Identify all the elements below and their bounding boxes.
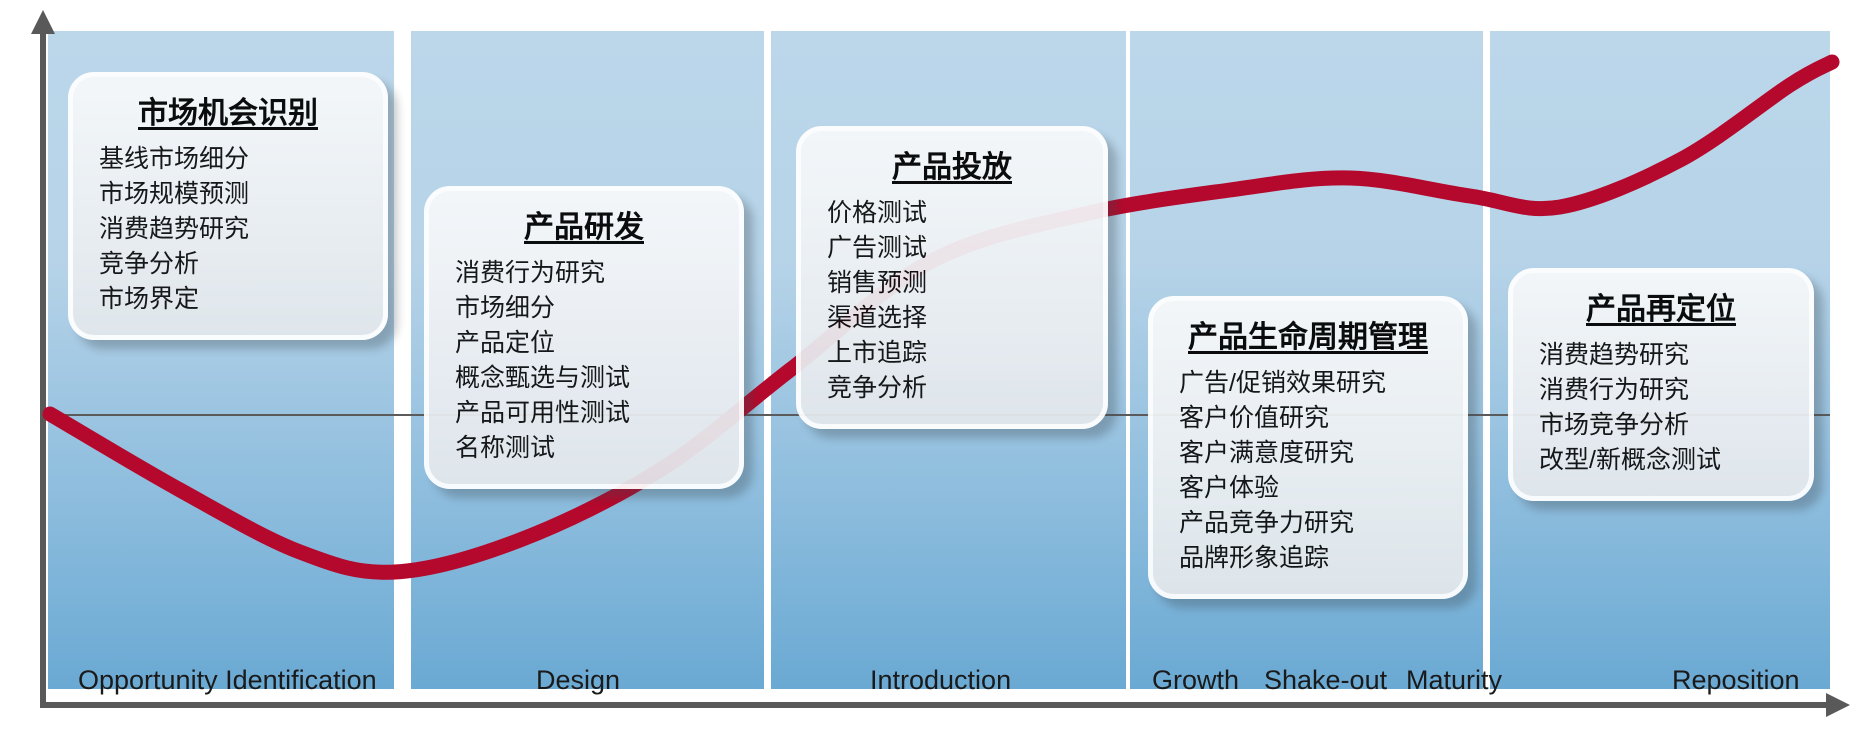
- card-title-product-launch: 产品投放: [827, 151, 1077, 186]
- list-item: 产品竞争力研究: [1179, 506, 1437, 541]
- list-item: 市场竞争分析: [1539, 408, 1783, 443]
- list-item: 渠道选择: [827, 301, 1077, 336]
- list-item: 消费行为研究: [1539, 373, 1783, 408]
- list-item: 广告测试: [827, 231, 1077, 266]
- x-axis-line: [40, 702, 1830, 708]
- list-item: 基线市场细分: [99, 142, 357, 177]
- x-axis-arrow-icon: [1826, 693, 1850, 717]
- card-market-opportunity-identification[interactable]: 市场机会识别基线市场细分市场规模预测消费趋势研究竞争分析市场界定: [68, 72, 388, 340]
- product-lifecycle-diagram: Opportunity IdentificationDesignIntroduc…: [0, 0, 1872, 756]
- card-product-research-development[interactable]: 产品研发消费行为研究市场细分产品定位概念甄选与测试产品可用性测试名称测试: [424, 186, 744, 489]
- stage-label-2: Introduction: [870, 665, 1011, 696]
- stage-label-4: Shake-out: [1264, 665, 1387, 696]
- list-item: 名称测试: [455, 431, 713, 466]
- list-item: 上市追踪: [827, 336, 1077, 371]
- card-title-market-opportunity-identification: 市场机会识别: [99, 97, 357, 132]
- list-item: 竞争分析: [99, 247, 357, 282]
- card-product-launch[interactable]: 产品投放价格测试广告测试销售预测渠道选择上市追踪竞争分析: [796, 126, 1108, 429]
- list-item: 广告/促销效果研究: [1179, 366, 1437, 401]
- list-item: 改型/新概念测试: [1539, 443, 1783, 478]
- list-item: 竞争分析: [827, 371, 1077, 406]
- list-item: 概念甄选与测试: [455, 361, 713, 396]
- list-item: 客户价值研究: [1179, 401, 1437, 436]
- card-title-product-research-development: 产品研发: [455, 211, 713, 246]
- card-list-product-lifecycle-management: 广告/促销效果研究客户价值研究客户满意度研究客户体验产品竞争力研究品牌形象追踪: [1179, 366, 1437, 576]
- list-item: 消费趋势研究: [1539, 338, 1783, 373]
- card-list-product-repositioning: 消费趋势研究消费行为研究市场竞争分析改型/新概念测试: [1539, 338, 1783, 478]
- y-axis-arrow-icon: [31, 10, 55, 34]
- card-product-repositioning[interactable]: 产品再定位消费趋势研究消费行为研究市场竞争分析改型/新概念测试: [1508, 268, 1814, 501]
- list-item: 消费行为研究: [455, 256, 713, 291]
- list-item: 市场细分: [455, 291, 713, 326]
- card-list-product-research-development: 消费行为研究市场细分产品定位概念甄选与测试产品可用性测试名称测试: [455, 256, 713, 466]
- list-item: 销售预测: [827, 266, 1077, 301]
- list-item: 产品定位: [455, 326, 713, 361]
- card-list-market-opportunity-identification: 基线市场细分市场规模预测消费趋势研究竞争分析市场界定: [99, 142, 357, 317]
- list-item: 客户满意度研究: [1179, 436, 1437, 471]
- list-item: 产品可用性测试: [455, 396, 713, 431]
- list-item: 客户体验: [1179, 471, 1437, 506]
- stage-label-5: Maturity: [1406, 665, 1502, 696]
- stage-label-6: Reposition: [1672, 665, 1800, 696]
- y-axis-line: [40, 28, 46, 708]
- list-item: 价格测试: [827, 196, 1077, 231]
- stage-label-3: Growth: [1152, 665, 1239, 696]
- list-item: 市场规模预测: [99, 177, 357, 212]
- card-title-product-repositioning: 产品再定位: [1539, 293, 1783, 328]
- card-product-lifecycle-management[interactable]: 产品生命周期管理广告/促销效果研究客户价值研究客户满意度研究客户体验产品竞争力研…: [1148, 296, 1468, 599]
- card-list-product-launch: 价格测试广告测试销售预测渠道选择上市追踪竞争分析: [827, 196, 1077, 406]
- list-item: 市场界定: [99, 282, 357, 317]
- list-item: 消费趋势研究: [99, 212, 357, 247]
- list-item: 品牌形象追踪: [1179, 541, 1437, 576]
- stage-label-1: Design: [536, 665, 620, 696]
- card-title-product-lifecycle-management: 产品生命周期管理: [1179, 321, 1437, 356]
- stage-label-0: Opportunity Identification: [78, 665, 377, 696]
